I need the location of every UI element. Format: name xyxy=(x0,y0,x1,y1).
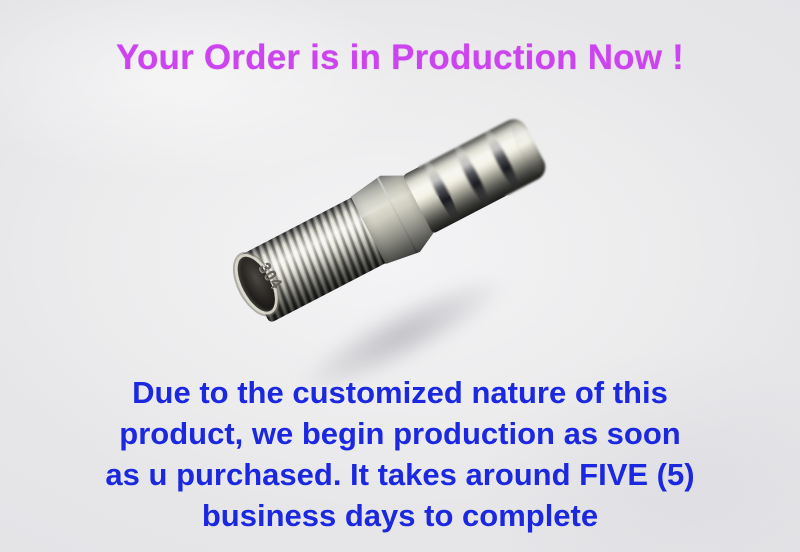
page-title: Your Order is in Production Now ! xyxy=(0,38,800,78)
notice-line-1: Due to the customized nature of this xyxy=(0,372,800,413)
notice-line-3: as u purchased. It takes around FIVE (5) xyxy=(0,454,800,495)
notice-line-4: business days to complete xyxy=(0,495,800,536)
barb-sheen xyxy=(403,114,551,233)
production-notice: Due to the customized nature of this pro… xyxy=(0,372,800,536)
promo-banner: Your Order is in Production Now ! 304 xyxy=(0,0,800,552)
notice-line-2: product, we begin production as soon xyxy=(0,413,800,454)
barb-end xyxy=(403,114,551,233)
